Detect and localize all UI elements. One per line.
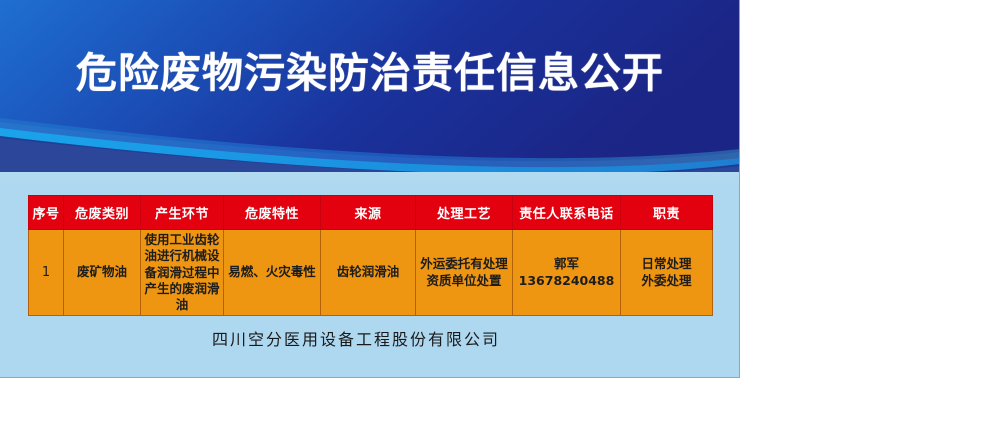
duty-line-2: 外委处理	[624, 273, 709, 290]
column-header-properties: 危废特性	[224, 196, 321, 230]
board-header-banner: 危险废物污染防治责任信息公开	[0, 0, 740, 172]
column-header-duty: 职责	[621, 196, 713, 230]
column-header-index: 序号	[29, 196, 64, 230]
cell-source: 齿轮润滑油	[321, 230, 416, 316]
table-row: 1 废矿物油 使用工业齿轮油进行机械设备润滑过程中产生的废润滑油 易燃、火灾毒性…	[29, 230, 713, 316]
cell-category: 废矿物油	[64, 230, 141, 316]
company-name: 四川空分医用设备工程股份有限公司	[0, 326, 712, 350]
hazardous-waste-table: 序号 危废类别 产生环节 危废特性 来源 处理工艺 责任人联系电话 职责 1 废…	[28, 195, 713, 316]
cell-index: 1	[29, 230, 64, 316]
contact-phone: 13678240488	[516, 273, 617, 290]
column-header-source: 来源	[321, 196, 416, 230]
cell-process: 外运委托有处理资质单位处置	[416, 230, 513, 316]
cell-duty: 日常处理 外委处理	[621, 230, 713, 316]
information-board: 危险废物污染防治责任信息公开 序号 危废类别 产生环节 危废特性 来源 处理工艺…	[0, 0, 740, 378]
column-header-category: 危废类别	[64, 196, 141, 230]
column-header-process: 处理工艺	[416, 196, 513, 230]
column-header-contact: 责任人联系电话	[513, 196, 621, 230]
cell-contact: 郭军 13678240488	[513, 230, 621, 316]
contact-person-name: 郭军	[516, 256, 617, 273]
cell-stage: 使用工业齿轮油进行机械设备润滑过程中产生的废润滑油	[141, 230, 224, 316]
banner-wave-graphic	[0, 0, 740, 172]
table-header-row: 序号 危废类别 产生环节 危废特性 来源 处理工艺 责任人联系电话 职责	[29, 196, 713, 230]
column-header-stage: 产生环节	[141, 196, 224, 230]
cell-properties: 易燃、火灾毒性	[224, 230, 321, 316]
duty-line-1: 日常处理	[624, 256, 709, 273]
